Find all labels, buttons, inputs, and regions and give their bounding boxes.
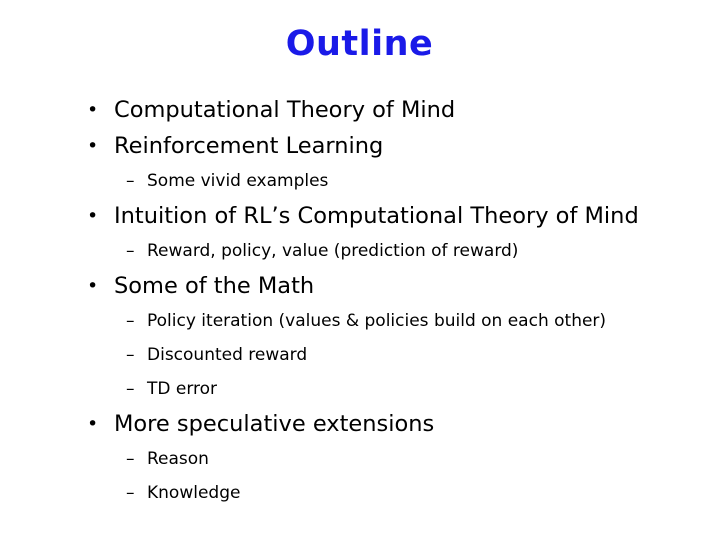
bullet-text: TD error	[147, 372, 217, 406]
sub-bullet-item: –Knowledge	[0, 476, 719, 510]
sub-bullet-item: –Some vivid examples	[0, 164, 719, 198]
bullet-marker-icon: •	[87, 406, 114, 442]
dash-marker-icon: –	[126, 372, 147, 406]
bullet-item: •Some of the Math	[0, 268, 719, 304]
dash-marker-icon: –	[126, 164, 147, 198]
bullet-text: Computational Theory of Mind	[114, 92, 455, 128]
bullet-marker-icon: •	[87, 128, 114, 164]
bullet-marker-icon: •	[87, 198, 114, 234]
slide-title: Outline	[0, 22, 719, 66]
bullet-marker-icon: •	[87, 92, 114, 128]
bullet-text: Some of the Math	[114, 268, 314, 304]
bullet-text: Policy iteration (values & policies buil…	[147, 304, 606, 338]
sub-bullet-item: –Policy iteration (values & policies bui…	[0, 304, 719, 338]
bullet-text: Reinforcement Learning	[114, 128, 383, 164]
bullet-marker-icon: •	[87, 268, 114, 304]
bullet-text: Intuition of RL’s Computational Theory o…	[114, 198, 639, 234]
sub-bullet-item: –TD error	[0, 372, 719, 406]
dash-marker-icon: –	[126, 234, 147, 268]
dash-marker-icon: –	[126, 338, 147, 372]
bullet-item: •Computational Theory of Mind	[0, 92, 719, 128]
bullet-item: •More speculative extensions	[0, 406, 719, 442]
sub-bullet-item: –Reason	[0, 442, 719, 476]
bullet-text: Some vivid examples	[147, 164, 328, 198]
bullet-text: Discounted reward	[147, 338, 307, 372]
dash-marker-icon: –	[126, 442, 147, 476]
sub-bullet-item: –Discounted reward	[0, 338, 719, 372]
outline-bullet-list: •Computational Theory of Mind•Reinforcem…	[0, 92, 719, 532]
dash-marker-icon: –	[126, 304, 147, 338]
bullet-text: Reward, policy, value (prediction of rew…	[147, 234, 518, 268]
sub-bullet-item: –Reward, policy, value (prediction of re…	[0, 234, 719, 268]
presentation-slide: Outline •Computational Theory of Mind•Re…	[0, 0, 719, 539]
dash-marker-icon: –	[126, 476, 147, 510]
bullet-text: More speculative extensions	[114, 406, 434, 442]
bullet-item: •Reinforcement Learning	[0, 128, 719, 164]
bullet-text: Knowledge	[147, 476, 240, 510]
bullet-item: •Intuition of RL’s Computational Theory …	[0, 198, 719, 234]
bullet-text: Reason	[147, 442, 209, 476]
